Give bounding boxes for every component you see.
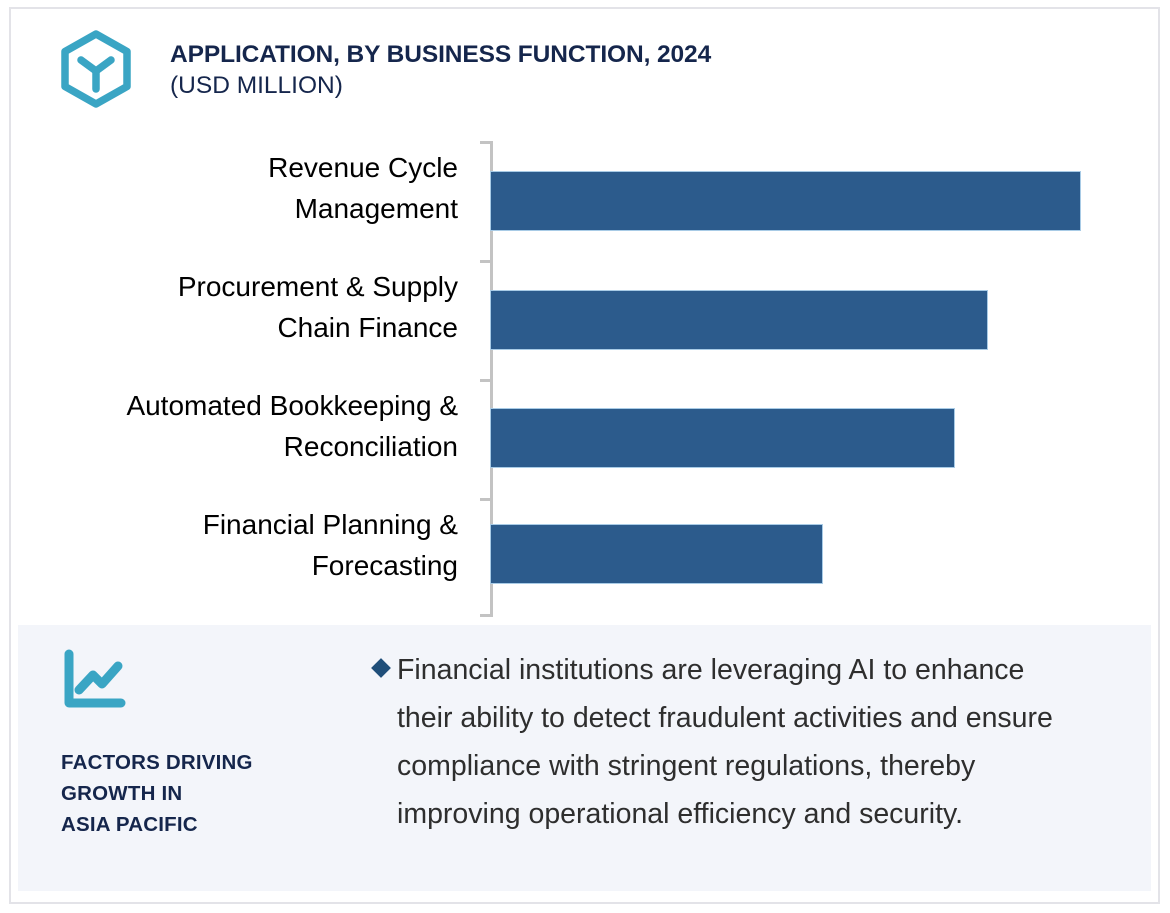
- chart-unit-label: (USD MILLION): [170, 70, 1070, 101]
- category-label-procurement-supply-chain-finance: Procurement & Supply Chain Finance: [18, 266, 458, 348]
- footer-heading-line-2: GROWTH IN: [61, 778, 361, 809]
- axis-tick: [480, 614, 493, 617]
- infographic-card: APPLICATION, BY BUSINESS FUNCTION, 2024 …: [9, 7, 1160, 904]
- footer-heading-line-1: FACTORS DRIVING: [61, 747, 361, 778]
- axis-tick: [480, 260, 493, 263]
- plot-axis-area: [473, 127, 1162, 625]
- bar-automated-bookkeeping-reconciliation: [490, 408, 955, 468]
- bar-chart: Revenue Cycle Management Procurement & S…: [11, 127, 1158, 625]
- category-label-automated-bookkeeping-reconciliation: Automated Bookkeeping & Reconciliation: [18, 385, 458, 467]
- hexagon-y-logo-icon: [57, 30, 135, 108]
- line-chart-icon: [61, 649, 127, 711]
- footer-bullet-item: Financial institutions are leveraging AI…: [374, 646, 1074, 838]
- footer-heading-line-3: ASIA PACIFIC: [61, 809, 361, 840]
- category-label-revenue-cycle-management: Revenue Cycle Management: [18, 147, 458, 229]
- axis-tick: [480, 498, 493, 501]
- bar-procurement-supply-chain-finance: [490, 290, 988, 350]
- category-axis-labels: Revenue Cycle Management Procurement & S…: [11, 127, 473, 625]
- footer-bullet-text: Financial institutions are leveraging AI…: [397, 646, 1074, 838]
- bar-revenue-cycle-management: [490, 171, 1081, 231]
- footer-panel: FACTORS DRIVING GROWTH IN ASIA PACIFIC F…: [18, 625, 1151, 891]
- title-block: APPLICATION, BY BUSINESS FUNCTION, 2024 …: [170, 40, 1070, 101]
- axis-tick: [480, 141, 493, 144]
- axis-tick: [480, 379, 493, 382]
- bar-financial-planning-forecasting: [490, 524, 823, 584]
- header: APPLICATION, BY BUSINESS FUNCTION, 2024 …: [11, 9, 1158, 127]
- chart-title: APPLICATION, BY BUSINESS FUNCTION, 2024: [170, 40, 1070, 70]
- diamond-bullet-icon: [371, 658, 391, 678]
- category-label-financial-planning-forecasting: Financial Planning & Forecasting: [18, 504, 458, 586]
- footer-heading: FACTORS DRIVING GROWTH IN ASIA PACIFIC: [61, 747, 361, 840]
